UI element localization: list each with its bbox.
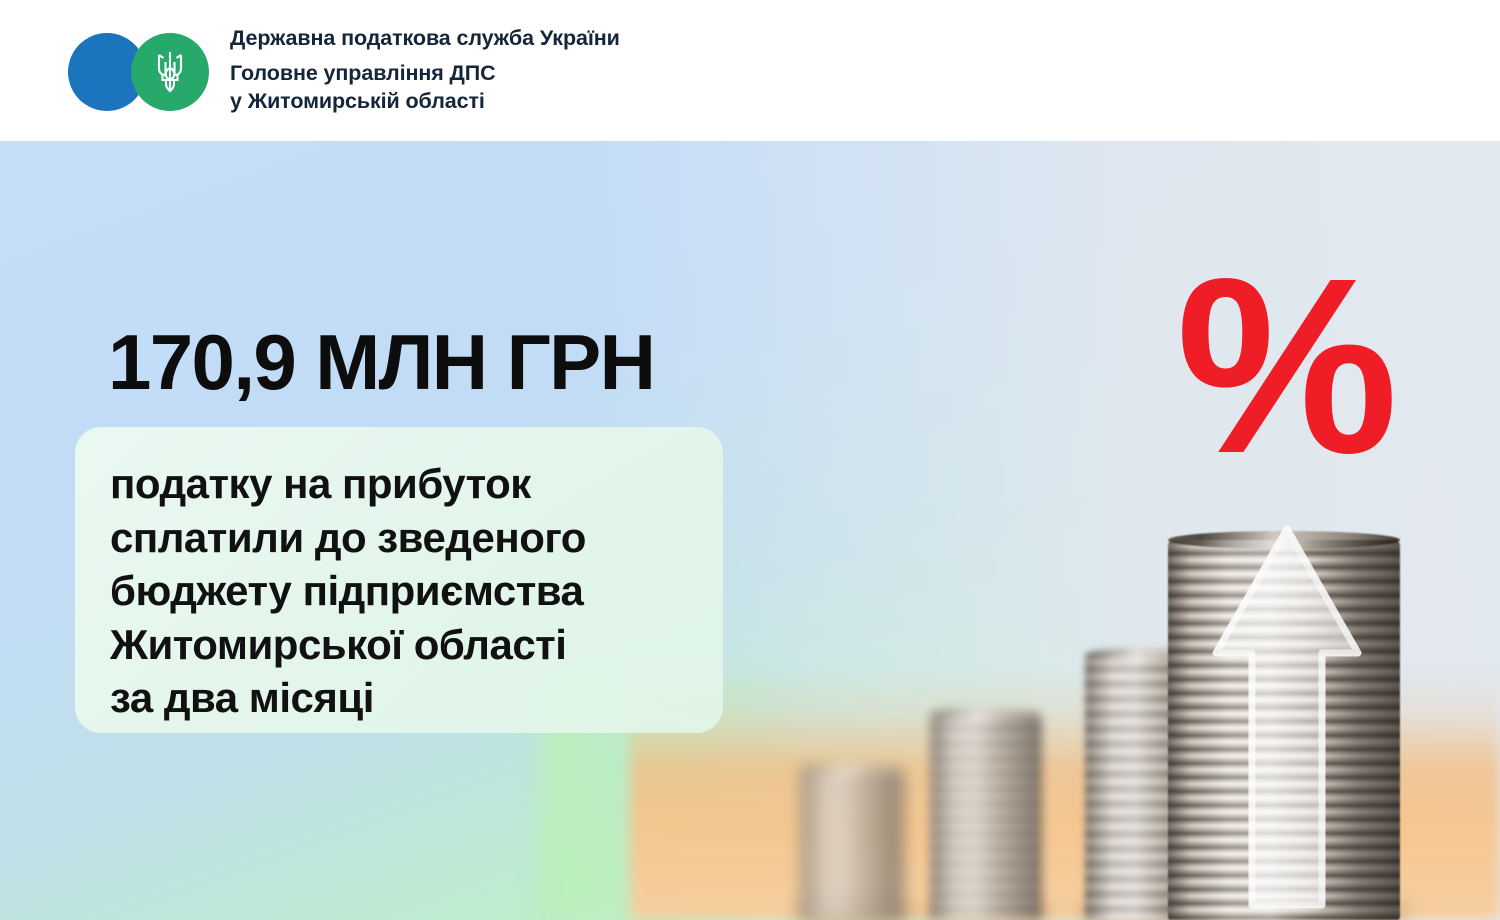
body-text-line: податку на прибуток (110, 457, 710, 511)
agency-name-line-2: Головне управління ДПС (230, 59, 620, 87)
coin-top-icon (930, 708, 1042, 722)
ukraine-trident-icon (153, 49, 187, 95)
agency-logo (68, 31, 218, 111)
infographic-poster: Державна податкова служба України Головн… (0, 0, 1500, 920)
logo-green-circle-icon (131, 33, 209, 111)
headline-amount: 170,9 МЛН ГРН (108, 323, 654, 401)
body-text-line: сплатили до зведеного (110, 511, 710, 565)
agency-name-line-3: у Житомирській області (230, 87, 620, 115)
agency-name-block: Державна податкова служба України Головн… (230, 25, 620, 116)
poster-canvas: % 170,9 МЛН ГРН податку на прибуток спла… (0, 141, 1500, 920)
body-text-line: за два місяці (110, 671, 710, 725)
coin-stack-icon (800, 770, 904, 920)
coin-top-icon (800, 763, 904, 777)
agency-name-line-1: Державна податкова служба України (230, 25, 620, 52)
up-arrow-icon (1212, 525, 1362, 910)
body-text-line: бюджету підприємства (110, 564, 710, 618)
percent-symbol: % (1176, 263, 1392, 468)
body-text: податку на прибуток сплатили до зведеног… (110, 457, 710, 725)
body-text-line: Житомирської області (110, 618, 710, 672)
header-bar: Державна податкова служба України Головн… (0, 0, 1500, 141)
coin-stack-icon (930, 715, 1042, 920)
